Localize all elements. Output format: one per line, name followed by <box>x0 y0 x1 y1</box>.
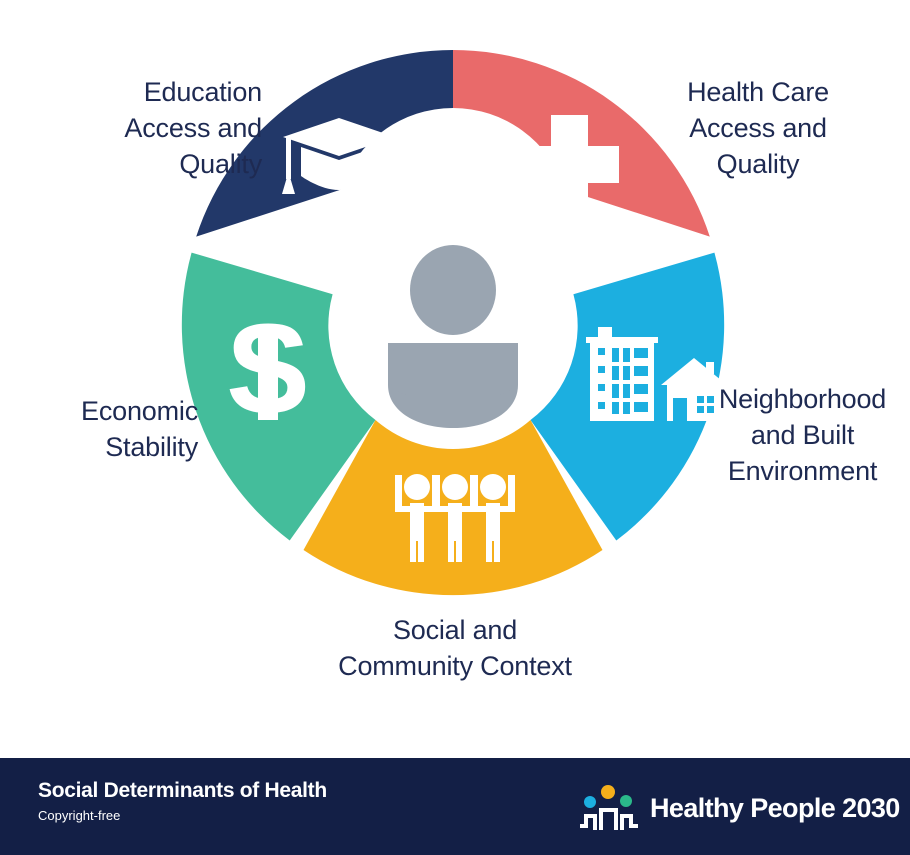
label-health-care-access-and-quality: Health Care Access and Quality <box>642 74 874 182</box>
label-education-access-and-quality: Education Access and Quality <box>32 74 262 182</box>
dollar-sign-icon: S <box>226 298 310 439</box>
footer-subtitle: Copyright-free <box>38 807 327 825</box>
footer-bar: Social Determinants of Health Copyright-… <box>0 758 910 855</box>
healthy-people-brand[interactable]: Healthy People 2030 <box>578 782 900 834</box>
footer-title: Social Determinants of Health <box>38 778 327 804</box>
footer-text-block: Social Determinants of Health Copyright-… <box>38 778 327 825</box>
sdoh-infographic: S Education Access and Quality Health Ca… <box>0 0 910 855</box>
diagram-area: S Education Access and Quality Health Ca… <box>0 0 910 748</box>
brand-wordmark: Healthy People 2030 <box>650 793 900 823</box>
label-economic-stability: Economic Stability <box>0 393 198 465</box>
healthy-people-logo-icon <box>578 782 640 834</box>
label-social-and-community-context: Social and Community Context <box>290 612 620 684</box>
label-neighborhood-and-built-environment: Neighborhood and Built Environment <box>700 381 905 489</box>
